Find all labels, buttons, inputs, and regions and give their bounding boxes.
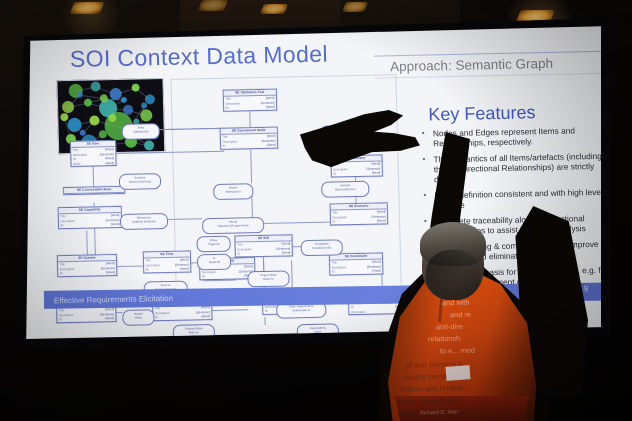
entity-se-connectable-base[interactable]: SE Connectable Base [63,186,125,196]
approach-label: Approach: Semantic Graph [390,56,553,74]
entity-title: SE Connectable Base [64,187,124,195]
presenter-shirt-hem [392,396,532,421]
relationship-label: Risk For [249,277,287,282]
relationship-label: Relevant for [215,189,251,194]
entity-se-soi[interactable]: SE SOITitle[Word]Description[Sentence]ID… [234,234,293,257]
pointing-hand-icon [300,110,420,178]
entity-se-validation-test[interactable]: SE Validation TestTitle[Word]Description… [223,89,278,112]
relationship-label: Organised Requirements [204,223,262,228]
relationship-label: Risk For [175,330,213,335]
slide-title: SOI Context Data Model [70,41,329,73]
ceiling-light-icon [198,0,228,11]
ceiling-light-icon [342,2,368,12]
entity-se-flow[interactable]: SE FlowTitle[Word]Description[Sentence]I… [143,250,192,273]
relationship-rel-references-satisfied-summary[interactable]: ReferencesSatisfied Summary [120,213,168,230]
relationship-label: Risks [124,315,152,320]
presenter: and withand reanti-direrelationshto e...… [300,110,632,421]
presenter-face-shadow [426,250,480,300]
entity-se-system[interactable]: SE SystemTitle[Word]Description[Sentence… [57,254,118,277]
relationship-label: Derived Summary [121,179,159,184]
relationship-label: Satisfied Summary [122,219,166,224]
diagram-connector [86,231,88,255]
relationship-rel-tests-validated-by-1[interactable]: TestsValidated by [122,123,160,140]
entity-se-capability[interactable]: SE CapabilityTitle[Word]Description[Sent… [58,206,123,229]
presenter-badge [446,365,471,381]
header-divider [374,51,606,57]
entity-se-user[interactable]: SE UserTitle[Word]Description[Sentence]I… [70,140,117,167]
diagram-connector [93,167,95,187]
entity-attribute-row: Name[Word] [71,161,115,166]
diagram-connector [210,309,248,311]
ceiling-light-icon [260,4,288,14]
relationship-rel-project-risks-risk-for[interactable]: Project RisksRisk For [247,270,289,287]
presentation-photo: SOI Context Data Model Approach: Semanti… [0,0,632,421]
relationship-rel-to-target-of-2[interactable]: ToTarget Of [197,254,231,271]
relationship-label: Target Of [199,242,229,247]
entity-se-operational-mode[interactable]: SE Operational ModeTitle[Word]Descriptio… [220,127,279,150]
relationship-rel-needs-organised-requirements[interactable]: NeedsOrganised Requirements [202,217,264,234]
relationship-rel-modes-relevant-for[interactable]: ModesRelevant for [213,183,253,200]
diagram-connector [115,265,143,267]
relationship-label: Target Of [199,260,229,265]
relationship-label: Validated by [124,129,158,134]
diagram-connector [264,317,265,325]
relationship-rel-to-target-of-1[interactable]: FlowsTarget Of [196,236,230,253]
relationship-rel-sections-derived-summary[interactable]: SectionsDerived Summary [119,173,161,190]
relationship-rel-hazard-risks[interactable]: HazardRisks [122,309,154,326]
ceiling-light-icon [70,2,105,14]
